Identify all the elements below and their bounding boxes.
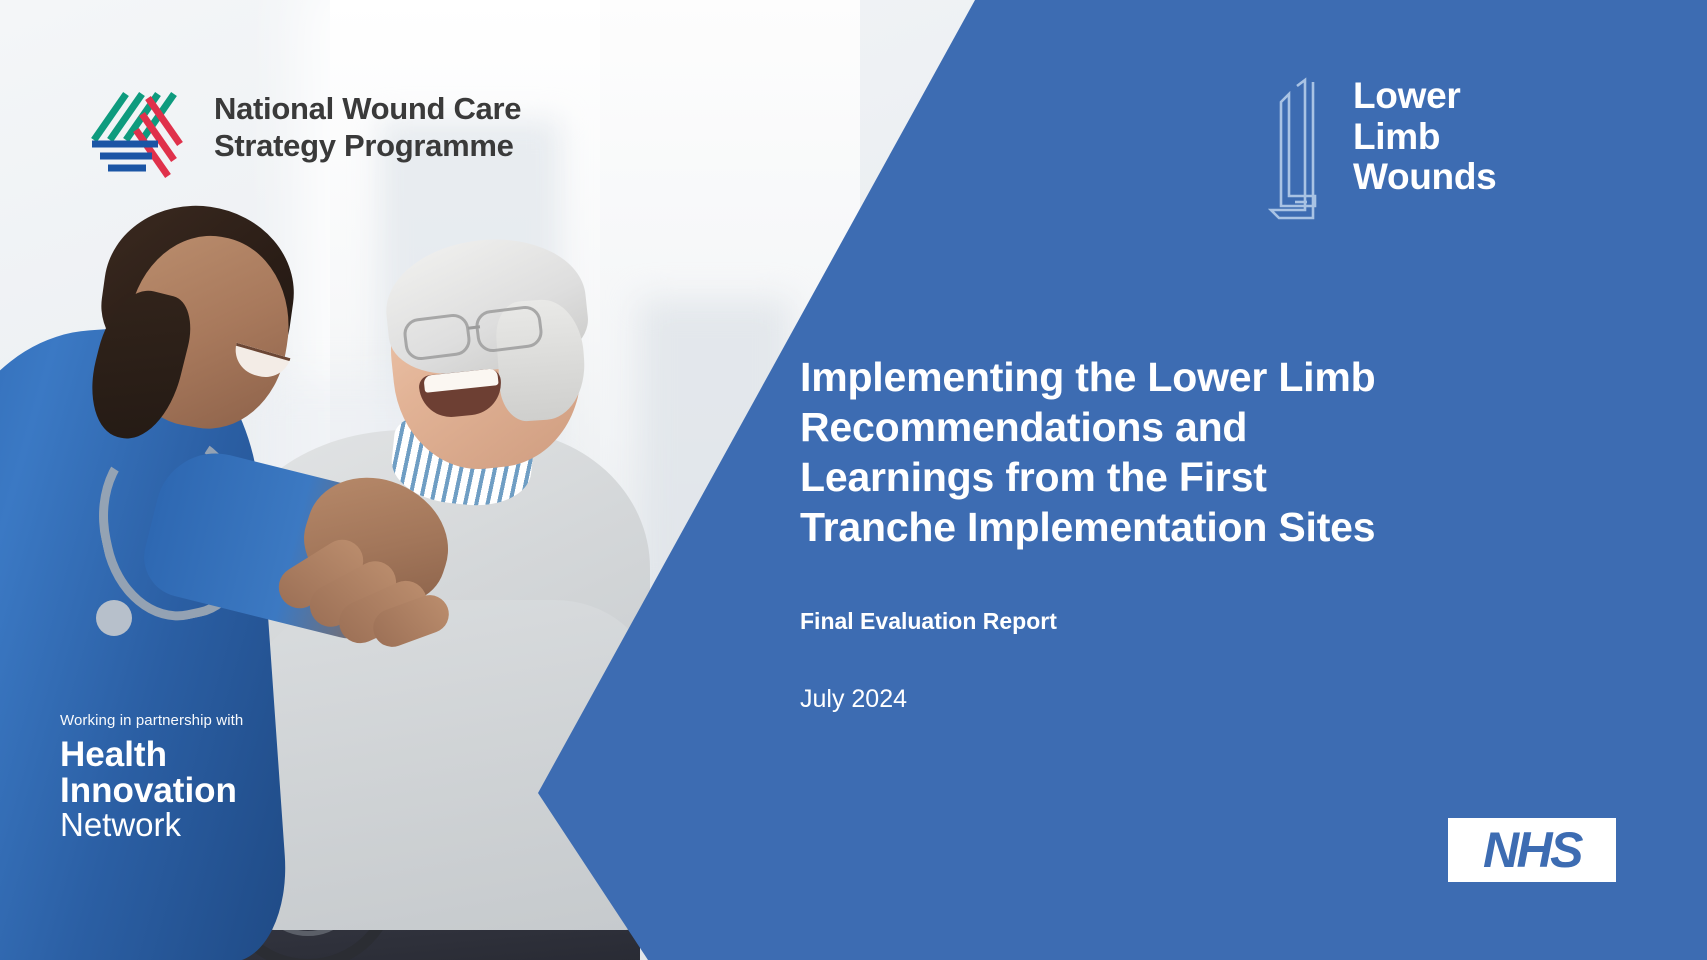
hin-logo-line-3: Network <box>60 808 243 843</box>
document-title: Implementing the Lower Limb Recommendati… <box>800 352 1560 552</box>
hin-logo-line-1: Health <box>60 737 243 773</box>
document-subtitle: Final Evaluation Report <box>800 608 1560 635</box>
stethoscope-bell-icon <box>96 600 132 636</box>
lower-limb-wounds-logo: Lower Limb Wounds <box>1255 76 1496 226</box>
nhs-logo-text: NHS <box>1483 825 1581 875</box>
nwcsp-logo: National Wound Care Strategy Programme <box>86 78 521 178</box>
striped-triangle-icon <box>86 78 192 178</box>
hin-logo-line-2: Innovation <box>60 773 243 809</box>
document-date: July 2024 <box>800 685 1560 714</box>
partnership-label: Working in partnership with <box>60 712 243 729</box>
nwcsp-logo-text: National Wound Care Strategy Programme <box>214 91 521 164</box>
title-block: Implementing the Lower Limb Recommendati… <box>800 352 1560 714</box>
lower-limb-wounds-logo-text: Lower Limb Wounds <box>1353 76 1496 198</box>
limb-outline-icon <box>1255 76 1331 226</box>
report-cover-page: National Wound Care Strategy Programme L… <box>0 0 1707 960</box>
health-innovation-network-logo: Working in partnership with Health Innov… <box>60 712 243 843</box>
nhs-logo: NHS <box>1448 818 1616 882</box>
